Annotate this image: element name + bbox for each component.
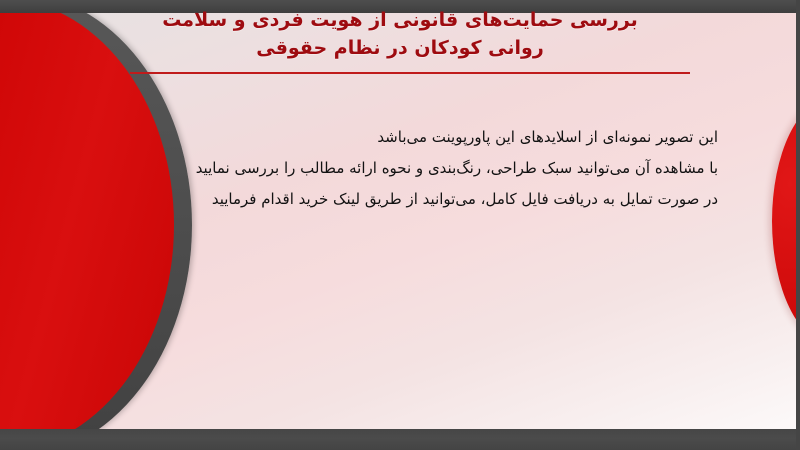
body-line-3: در صورت تمایل به دریافت فایل کامل، می‌تو… xyxy=(78,184,718,215)
arc-band-8 xyxy=(161,12,797,429)
frame-band-bottom xyxy=(0,429,800,450)
slide-title-line-2: روانی کودکان در نظام حقوقی xyxy=(96,34,704,62)
slide-title: بررسی حمایت‌های قانونی از هویت فردی و سل… xyxy=(0,6,800,62)
presentation-slide: بررسی حمایت‌های قانونی از هویت فردی و سل… xyxy=(0,0,800,450)
body-line-2: با مشاهده آن می‌توانید سبک طراحی، رنگ‌بن… xyxy=(78,153,718,184)
frame-band-right xyxy=(796,0,800,450)
slide-body-text: این تصویر نمونه‌ای از اسلایدهای این پاور… xyxy=(78,122,718,215)
slide-title-line-1: بررسی حمایت‌های قانونی از هویت فردی و سل… xyxy=(96,6,704,34)
body-line-1: این تصویر نمونه‌ای از اسلایدهای این پاور… xyxy=(78,122,718,153)
title-underline-rule xyxy=(130,72,690,74)
